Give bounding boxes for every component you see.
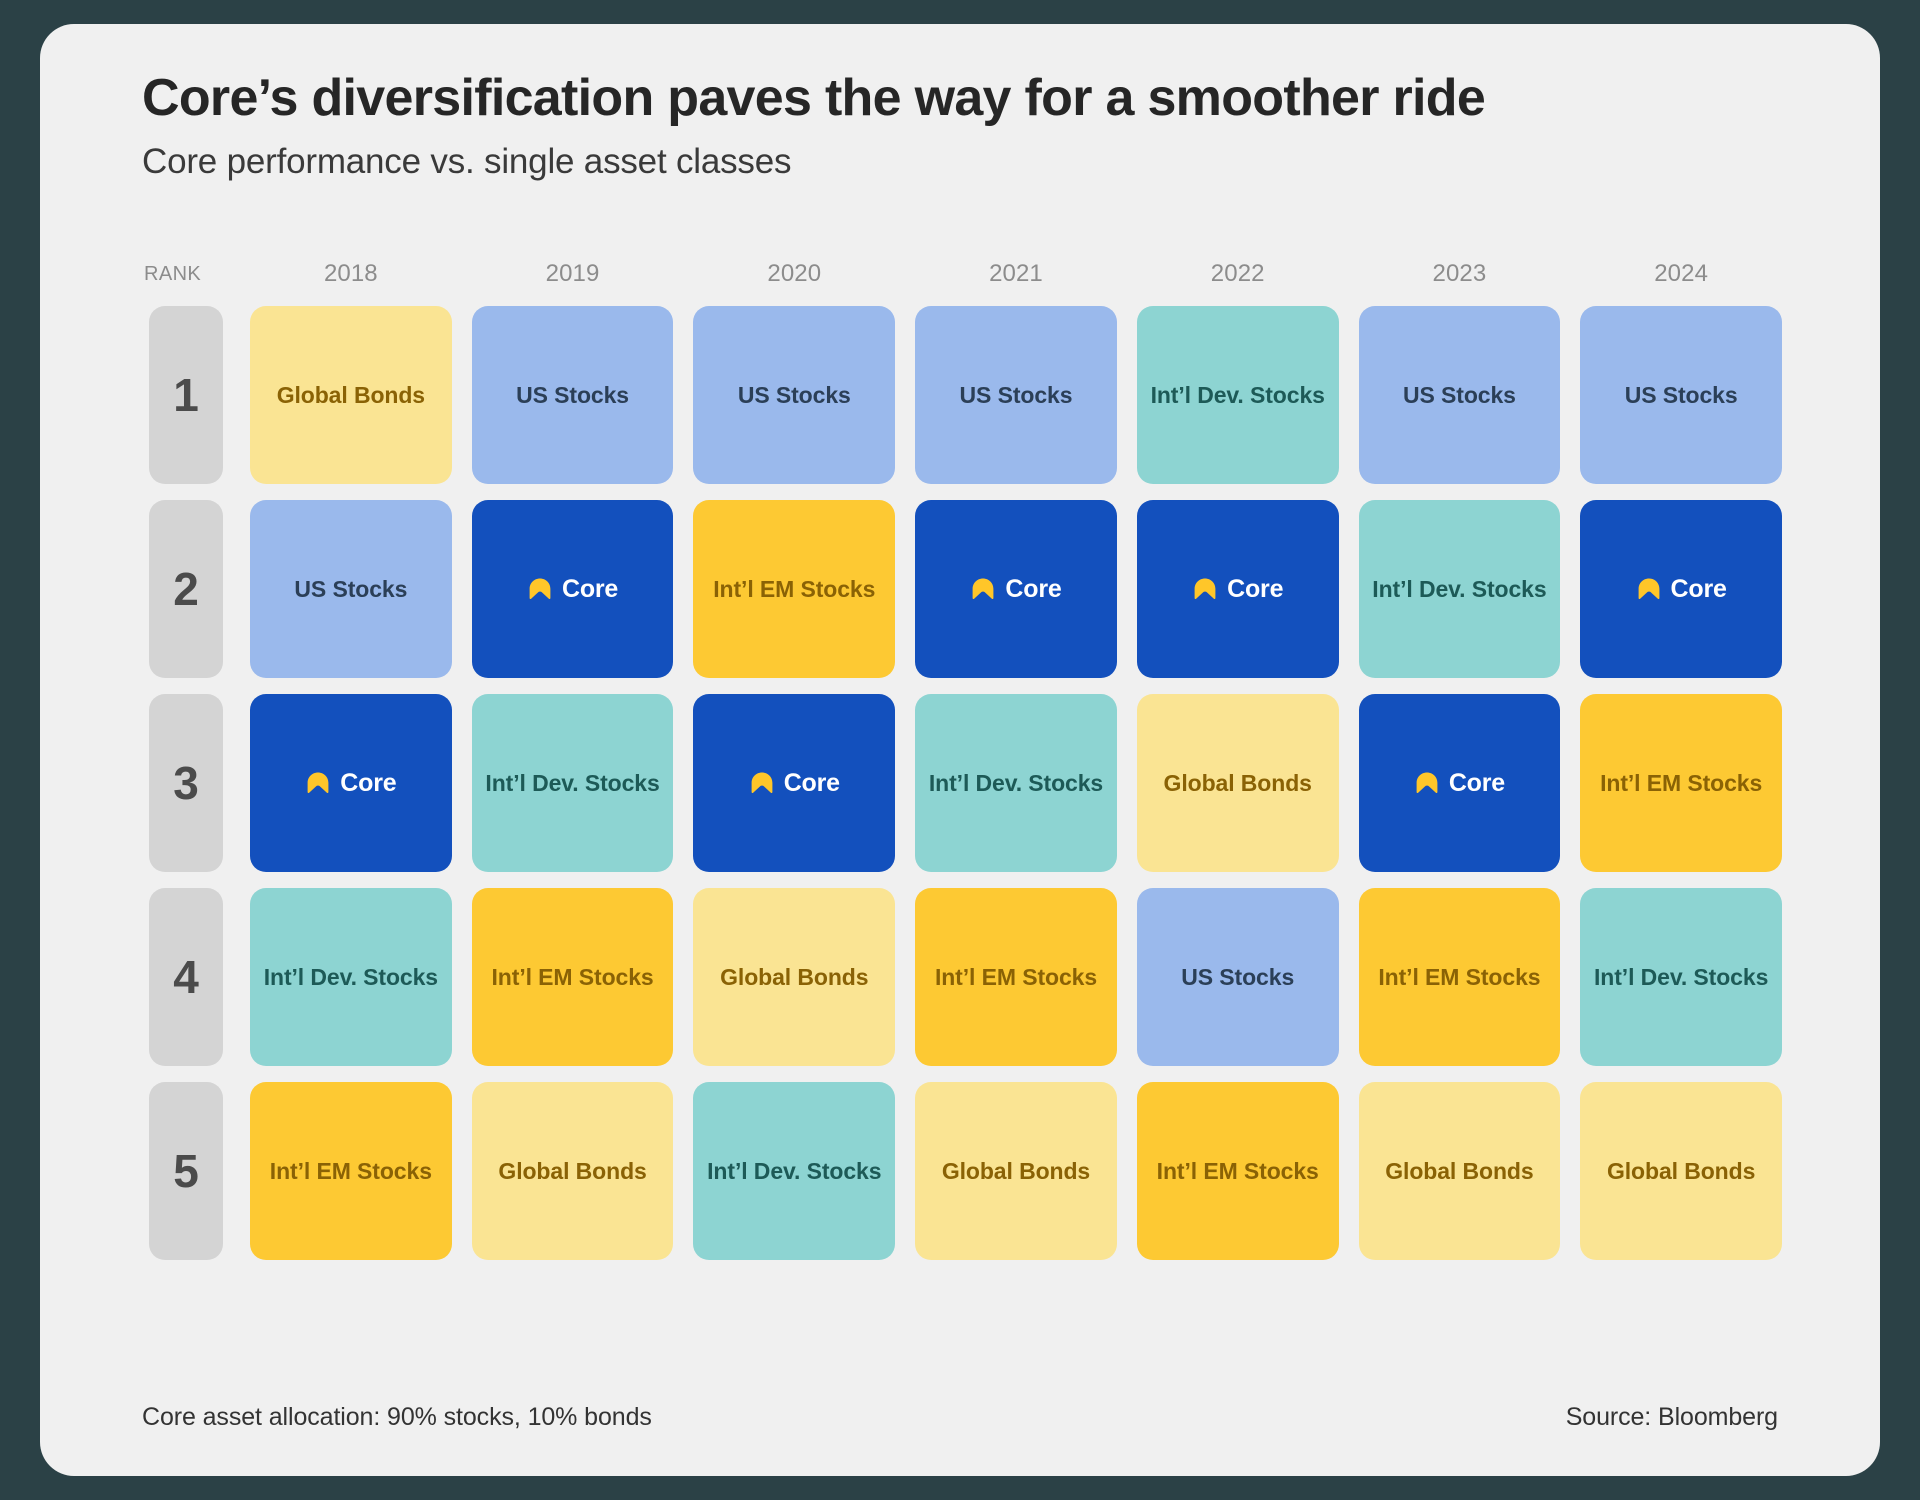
cell-label: Global Bonds xyxy=(1607,1158,1755,1185)
source-label: Source: Bloomberg xyxy=(1566,1403,1778,1432)
cell-asset-class[interactable]: Int’l Dev. Stocks xyxy=(1359,500,1561,678)
core-label: Core xyxy=(1449,769,1505,798)
year-header-2020: 2020 xyxy=(693,260,895,288)
cell-asset-class[interactable]: Int’l EM Stocks xyxy=(1137,1082,1339,1260)
cell-asset-class[interactable]: US Stocks xyxy=(915,306,1117,484)
table-header-row: RANK 2018 2019 2020 2021 2022 2023 2024 xyxy=(142,252,1782,296)
card-footer: Core asset allocation: 90% stocks, 10% b… xyxy=(142,1403,1778,1432)
cell-asset-class[interactable]: Global Bonds xyxy=(915,1082,1117,1260)
cell-label: Int’l Dev. Stocks xyxy=(1372,576,1546,603)
card-header: Core’s diversification paves the way for… xyxy=(40,24,1880,182)
table-row: 1Global BondsUS StocksUS StocksUS Stocks… xyxy=(142,306,1782,484)
cell-label: Int’l Dev. Stocks xyxy=(1151,382,1325,409)
core-brand: Core xyxy=(1414,769,1505,798)
cell-asset-class[interactable]: Global Bonds xyxy=(1580,1082,1782,1260)
core-brand: Core xyxy=(305,769,396,798)
cell-asset-class[interactable]: US Stocks xyxy=(693,306,895,484)
cell-asset-class[interactable]: Int’l EM Stocks xyxy=(1359,888,1561,1066)
rank-chip: 5 xyxy=(149,1082,223,1260)
core-brand: Core xyxy=(970,575,1061,604)
cell-asset-class[interactable]: US Stocks xyxy=(250,500,452,678)
table-row: 5Int’l EM StocksGlobal BondsInt’l Dev. S… xyxy=(142,1082,1782,1260)
core-label: Core xyxy=(1005,575,1061,604)
cell-label: Int’l EM Stocks xyxy=(1600,770,1762,797)
cell-asset-class[interactable]: Int’l Dev. Stocks xyxy=(472,694,674,872)
cell-asset-class[interactable]: Int’l EM Stocks xyxy=(250,1082,452,1260)
cell-core[interactable]: Core xyxy=(693,694,895,872)
page-subtitle: Core performance vs. single asset classe… xyxy=(142,142,1880,182)
cell-core[interactable]: Core xyxy=(915,500,1117,678)
core-label: Core xyxy=(1671,575,1727,604)
cell-asset-class[interactable]: Global Bonds xyxy=(472,1082,674,1260)
cell-label: Int’l EM Stocks xyxy=(1157,1158,1319,1185)
year-header-2023: 2023 xyxy=(1359,260,1561,288)
core-brand: Core xyxy=(527,575,618,604)
cell-label: US Stocks xyxy=(516,382,629,409)
core-brand: Core xyxy=(749,769,840,798)
core-logo-icon xyxy=(1414,770,1440,796)
core-logo-icon xyxy=(305,770,331,796)
core-logo-icon xyxy=(1192,576,1218,602)
cell-label: Int’l Dev. Stocks xyxy=(1594,964,1768,991)
cell-label: US Stocks xyxy=(1181,964,1294,991)
chart-card: Core’s diversification paves the way for… xyxy=(40,24,1880,1476)
core-label: Core xyxy=(1227,575,1283,604)
table-row: 3CoreInt’l Dev. StocksCoreInt’l Dev. Sto… xyxy=(142,694,1782,872)
rank-column-header: RANK xyxy=(142,263,230,286)
core-logo-icon xyxy=(527,576,553,602)
cell-label: Int’l Dev. Stocks xyxy=(485,770,659,797)
cell-core[interactable]: Core xyxy=(472,500,674,678)
cell-label: Global Bonds xyxy=(942,1158,1090,1185)
core-label: Core xyxy=(562,575,618,604)
cell-core[interactable]: Core xyxy=(1137,500,1339,678)
cell-label: Int’l Dev. Stocks xyxy=(929,770,1103,797)
core-logo-icon xyxy=(749,770,775,796)
page-title: Core’s diversification paves the way for… xyxy=(142,70,1880,126)
cell-label: US Stocks xyxy=(1403,382,1516,409)
cell-label: Int’l EM Stocks xyxy=(713,576,875,603)
cell-label: Int’l Dev. Stocks xyxy=(264,964,438,991)
cell-asset-class[interactable]: Int’l Dev. Stocks xyxy=(1580,888,1782,1066)
cell-asset-class[interactable]: Int’l Dev. Stocks xyxy=(1137,306,1339,484)
cell-label: Global Bonds xyxy=(277,382,425,409)
cell-label: US Stocks xyxy=(960,382,1073,409)
core-logo-icon xyxy=(970,576,996,602)
year-header-2021: 2021 xyxy=(915,260,1117,288)
cell-core[interactable]: Core xyxy=(250,694,452,872)
cell-label: Global Bonds xyxy=(1164,770,1312,797)
table-body: 1Global BondsUS StocksUS StocksUS Stocks… xyxy=(142,306,1782,1260)
cell-asset-class[interactable]: US Stocks xyxy=(1359,306,1561,484)
table-row: 2US StocksCoreInt’l EM StocksCoreCoreInt… xyxy=(142,500,1782,678)
cell-label: Int’l Dev. Stocks xyxy=(707,1158,881,1185)
core-logo-icon xyxy=(1636,576,1662,602)
cell-asset-class[interactable]: Int’l Dev. Stocks xyxy=(915,694,1117,872)
cell-label: US Stocks xyxy=(294,576,407,603)
rank-chip: 1 xyxy=(149,306,223,484)
cell-label: US Stocks xyxy=(738,382,851,409)
cell-asset-class[interactable]: US Stocks xyxy=(472,306,674,484)
core-brand: Core xyxy=(1192,575,1283,604)
cell-label: Int’l EM Stocks xyxy=(1378,964,1540,991)
cell-label: Global Bonds xyxy=(498,1158,646,1185)
year-header-2024: 2024 xyxy=(1580,260,1782,288)
cell-asset-class[interactable]: Int’l Dev. Stocks xyxy=(693,1082,895,1260)
year-header-2022: 2022 xyxy=(1137,260,1339,288)
cell-label: Int’l EM Stocks xyxy=(492,964,654,991)
cell-asset-class[interactable]: Int’l EM Stocks xyxy=(472,888,674,1066)
ranking-table: RANK 2018 2019 2020 2021 2022 2023 2024 … xyxy=(142,252,1782,1260)
cell-asset-class[interactable]: Int’l Dev. Stocks xyxy=(250,888,452,1066)
cell-asset-class[interactable]: US Stocks xyxy=(1580,306,1782,484)
cell-asset-class[interactable]: Int’l EM Stocks xyxy=(1580,694,1782,872)
cell-asset-class[interactable]: Int’l EM Stocks xyxy=(693,500,895,678)
rank-chip: 4 xyxy=(149,888,223,1066)
core-label: Core xyxy=(340,769,396,798)
cell-label: Int’l EM Stocks xyxy=(270,1158,432,1185)
year-header-2018: 2018 xyxy=(250,260,452,288)
cell-label: Global Bonds xyxy=(720,964,868,991)
cell-asset-class[interactable]: Global Bonds xyxy=(1359,1082,1561,1260)
rank-chip: 3 xyxy=(149,694,223,872)
cell-label: Global Bonds xyxy=(1385,1158,1533,1185)
footnote-allocation: Core asset allocation: 90% stocks, 10% b… xyxy=(142,1403,652,1432)
cell-asset-class[interactable]: Global Bonds xyxy=(693,888,895,1066)
cell-core[interactable]: Core xyxy=(1580,500,1782,678)
cell-asset-class[interactable]: Global Bonds xyxy=(1137,694,1339,872)
cell-label: Int’l EM Stocks xyxy=(935,964,1097,991)
year-header-2019: 2019 xyxy=(472,260,674,288)
cell-core[interactable]: Core xyxy=(1359,694,1561,872)
core-label: Core xyxy=(784,769,840,798)
cell-asset-class[interactable]: Global Bonds xyxy=(250,306,452,484)
core-brand: Core xyxy=(1636,575,1727,604)
cell-asset-class[interactable]: US Stocks xyxy=(1137,888,1339,1066)
cell-asset-class[interactable]: Int’l EM Stocks xyxy=(915,888,1117,1066)
table-row: 4Int’l Dev. StocksInt’l EM StocksGlobal … xyxy=(142,888,1782,1066)
cell-label: US Stocks xyxy=(1625,382,1738,409)
rank-chip: 2 xyxy=(149,500,223,678)
